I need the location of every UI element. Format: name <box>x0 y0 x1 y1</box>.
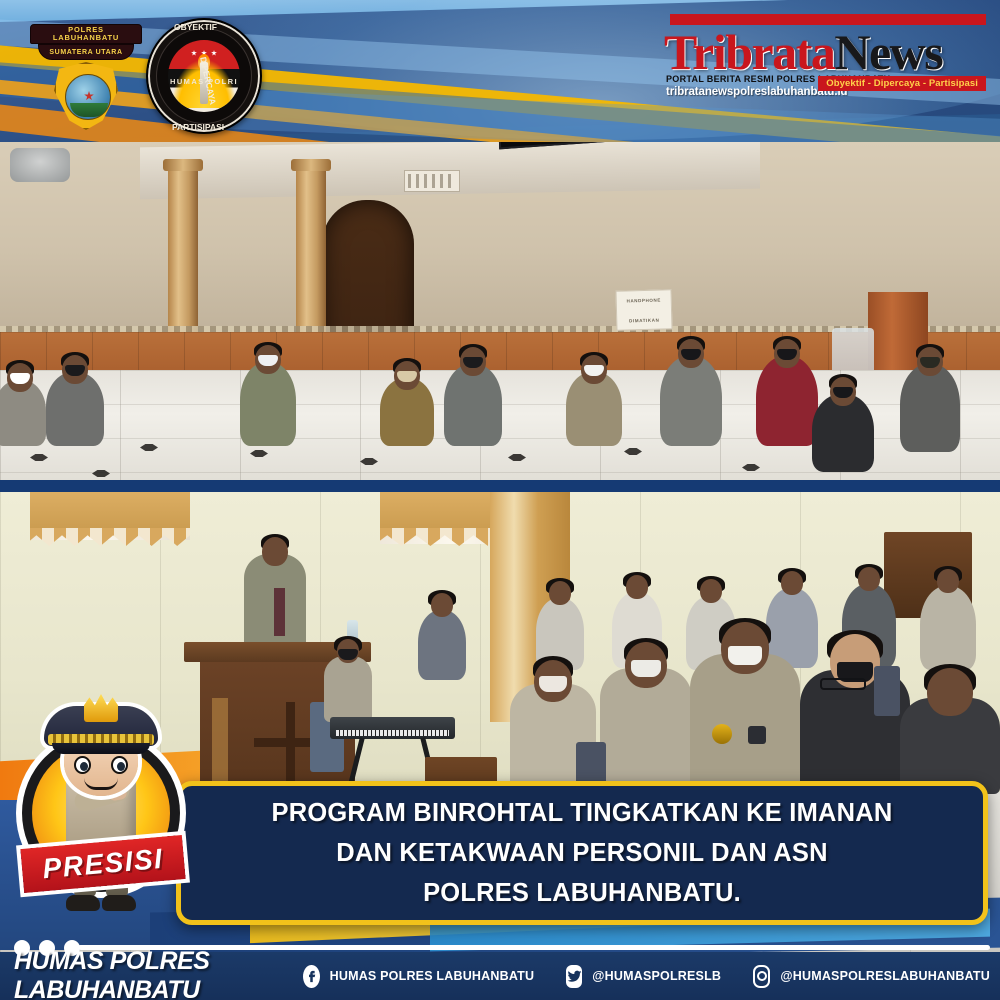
mascot-eye-left <box>74 756 91 774</box>
ceiling-fan-icon <box>10 148 70 182</box>
person-seated <box>660 356 722 446</box>
header-banner: POLRES LABUHANBATU SUMATERA UTARA <box>0 0 1000 142</box>
tribrata-word-part1: Tribrata <box>664 24 834 80</box>
facebook-handle[interactable]: HUMAS POLRES LABUHANBATU <box>330 969 535 983</box>
tribrata-wordmark: TribrataNews <box>664 23 988 75</box>
footer-brand: HUMAS POLRES LABUHANBATU <box>14 947 293 1000</box>
person-seated <box>756 356 818 446</box>
instagram-icon[interactable] <box>753 965 771 988</box>
tribrata-tagline: Obyektif - Dipercaya - Partisipasi <box>818 76 986 91</box>
seal-arc-text: OBYEKTIF DIPERCAYA PARTISIPASI <box>148 20 260 132</box>
polres-labuhanbatu-badge: POLRES LABUHANBATU SUMATERA UTARA <box>30 24 142 132</box>
mascot-shoe-left <box>66 895 100 911</box>
shield-star-icon <box>84 91 94 101</box>
sign-line2: DIMATIKAN <box>617 317 671 323</box>
humas-polri-torch-seal-icon: HUMAS POLRI OBYEKTIF DIPERCAYA PARTISIPA… <box>146 18 262 134</box>
twitter-handle[interactable]: @HUMASPOLRESLB <box>592 969 721 983</box>
news-poster: POLRES LABUHANBATU SUMATERA UTARA <box>0 0 1000 1000</box>
person-seated <box>46 372 104 446</box>
audience-chair <box>874 666 900 716</box>
photo-top-mosque-binrohtal: 08.19.00 2021 CUCI TANGAN PAKAI MASKER J… <box>0 142 1000 480</box>
caption-box: PROGRAM BINROHTAL TINGKATKAN KE IMANAN D… <box>176 781 988 925</box>
person-audience-front <box>600 668 692 792</box>
police-shield-emblem-icon <box>54 62 118 130</box>
sign-line1: HANDPHONE <box>617 297 671 303</box>
caption-line-3: POLRES LABUHANBATU. <box>423 879 741 908</box>
facebook-icon[interactable] <box>303 965 320 988</box>
person-seated <box>566 372 622 446</box>
person-seated <box>380 378 434 446</box>
mosque-vent <box>404 170 460 192</box>
mascot-cap-visor <box>52 743 150 754</box>
caption-line-2: DAN KETAKWAAN PERSONIL DAN ASN <box>336 839 827 868</box>
mascot-eye-right <box>111 756 128 774</box>
presisi-police-mascot-icon: PRESISI <box>8 700 193 950</box>
person-seated <box>240 362 296 446</box>
person-audience <box>418 610 466 680</box>
person-audience <box>920 586 976 670</box>
person-keyboardist <box>324 656 372 722</box>
speaker-necktie <box>274 588 285 636</box>
mascot-smile <box>84 778 118 790</box>
seal-arc-right: DIPERCAYA <box>198 56 218 106</box>
polres-line3: SUMATERA UTARA <box>49 49 122 56</box>
footer-social-bar: HUMAS POLRES LABUHANBATU HUMAS POLRES LA… <box>0 952 1000 1000</box>
footer-row: HUMAS POLRES LABUHANBATU HUMAS POLRES LA… <box>14 960 990 992</box>
shield-base <box>70 103 108 117</box>
hall-valance-left <box>30 492 190 534</box>
mascot-shoe-right <box>102 895 136 911</box>
handphone-dimatikan-sign: HANDPHONE DIMATIKAN <box>615 289 672 330</box>
tribrata-word-part2: News <box>834 24 942 80</box>
eyeglasses-icon <box>820 678 866 690</box>
person-audience-front-officer <box>690 654 800 792</box>
presisi-label: PRESISI <box>41 843 164 885</box>
twitter-icon[interactable] <box>566 965 583 988</box>
officer-name-tag <box>748 726 766 744</box>
instagram-handle[interactable]: @HUMASPOLRESLABUHANBATU <box>780 969 990 983</box>
polres-line2: LABUHANBATU <box>53 33 119 42</box>
seal-arc-top: OBYEKTIF <box>174 22 217 32</box>
person-seated <box>900 364 960 452</box>
person-seated <box>0 380 46 446</box>
polres-ribbon-bottom: SUMATERA UTARA <box>38 44 134 60</box>
mascot-cap-crown-icon <box>84 694 118 722</box>
officer-insignia <box>712 724 732 744</box>
seal-arc-bottom: PARTISIPASI <box>172 122 224 132</box>
caption-line-1: PROGRAM BINROHTAL TINGKATKAN KE IMANAN <box>272 799 893 828</box>
photo-divider <box>0 480 1000 492</box>
shield-inner-disc <box>65 74 111 120</box>
electronic-keyboard <box>330 717 455 739</box>
tribratanews-logo[interactable]: TribrataNews PORTAL BERITA RESMI POLRES … <box>656 14 986 118</box>
person-audience-front <box>900 698 1000 794</box>
person-seated <box>812 394 874 472</box>
person-seated-speaker <box>444 364 502 446</box>
polres-ribbon-top: POLRES LABUHANBATU <box>30 24 142 44</box>
